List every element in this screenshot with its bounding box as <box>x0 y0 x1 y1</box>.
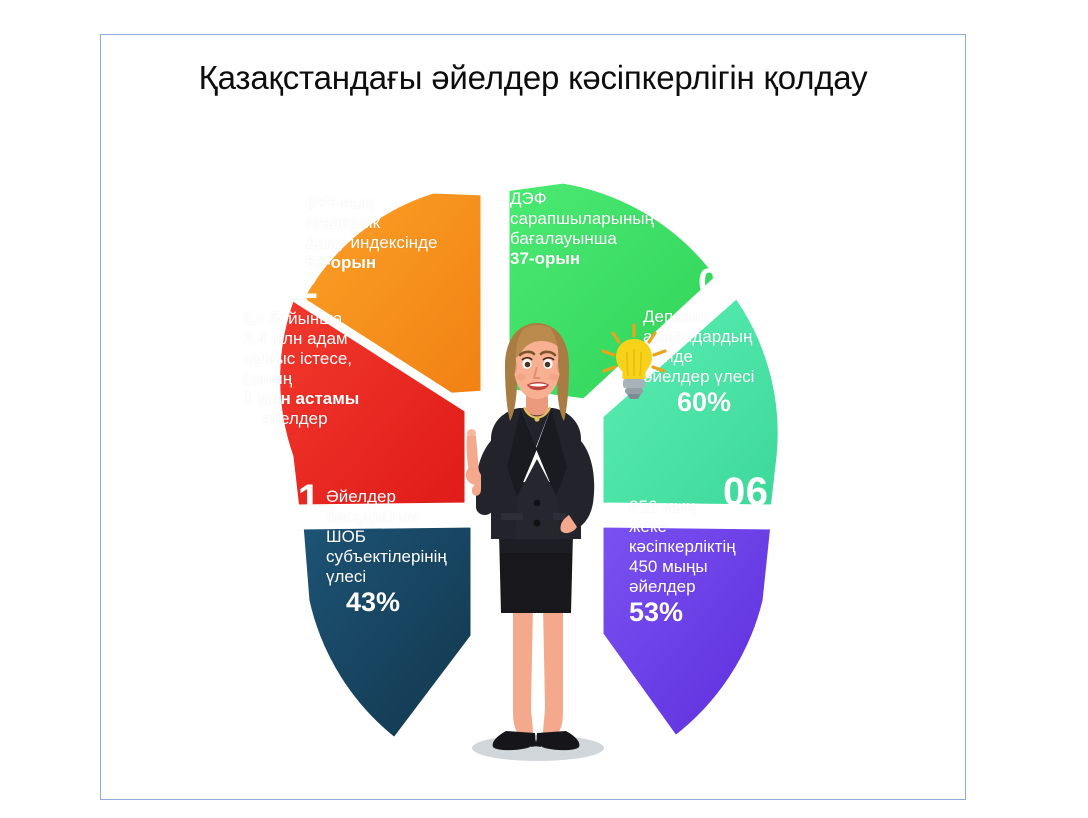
segment-number-05: 05 <box>698 263 744 303</box>
segment-number-03: 03 <box>381 149 427 189</box>
donut-infographic: 03 БҰҰ-ның гендерлік даму индексінде 51-… <box>133 127 933 767</box>
segment-number-04: 04 <box>510 145 556 185</box>
page-title: Қазақстандағы әйелдер кәсіпкерлігін қолд… <box>101 59 965 97</box>
segment-number-02: 02 <box>273 265 319 305</box>
segment-number-06: 06 <box>723 472 769 512</box>
segment-number-01: 01 <box>275 479 321 519</box>
businesswoman-illustration <box>421 307 651 767</box>
slide-canvas: Қазақстандағы әйелдер кәсіпкерлігін қолд… <box>100 34 966 800</box>
